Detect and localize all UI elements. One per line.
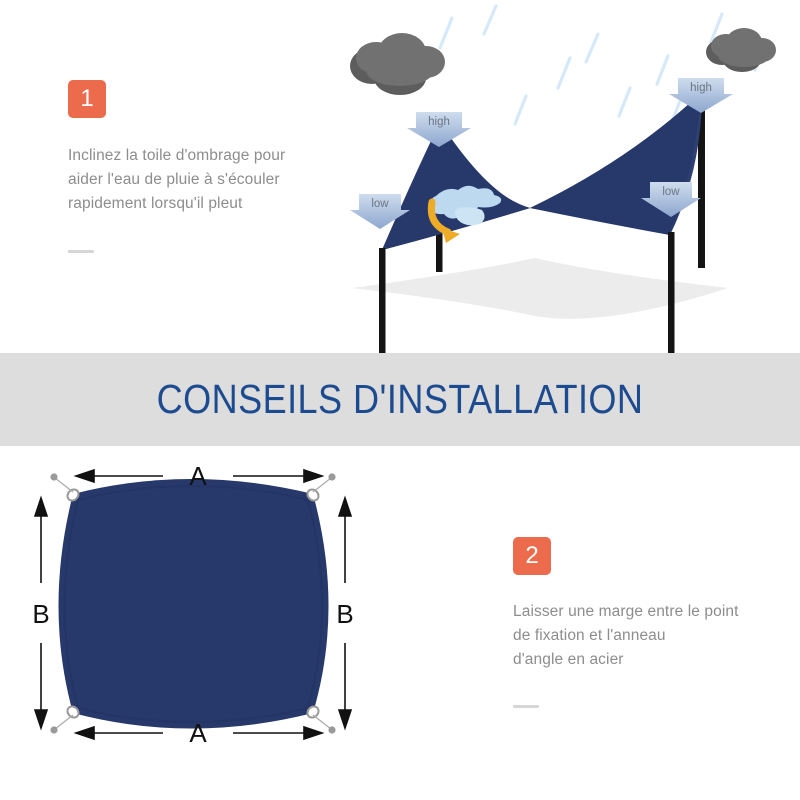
dimension-label-b-right: B (336, 599, 353, 629)
sail-dimension-illustration: A A B B (18, 458, 408, 788)
raindrop-icon (484, 6, 496, 34)
pole-front-right (668, 232, 675, 366)
step-2-block: 2 Laisser une marge entre le point de fi… (513, 537, 763, 708)
section-title-banner: CONSEILS D'INSTALLATION (0, 353, 800, 446)
anchor-line (55, 478, 73, 492)
page-title: CONSEILS D'INSTALLATION (48, 353, 752, 446)
raindrop-icon (440, 18, 452, 48)
pole-label-text: low (662, 186, 680, 198)
step-2-number-badge: 2 (513, 537, 551, 575)
pole-front-left (379, 248, 386, 366)
dimension-label-a-top: A (189, 461, 207, 491)
anchor-line (55, 715, 73, 729)
cloud-icon-right (706, 28, 776, 72)
anchor-line (313, 715, 331, 729)
step-2-description: Laisser une marge entre le point de fixa… (513, 600, 763, 672)
raindrop-icon (586, 34, 598, 62)
anchor-line (313, 478, 331, 492)
sail-square-shape (59, 479, 329, 729)
step-1-block: 1 Inclinez la toile d'ombrage pour aider… (68, 80, 318, 253)
anchor-point-icon (328, 726, 335, 733)
dimension-label-b-left: B (32, 599, 49, 629)
raindrop-icon (558, 58, 570, 88)
raindrop-icon (619, 88, 630, 116)
pole-label-text: high (690, 82, 712, 94)
anchor-point-icon (328, 473, 335, 480)
cloud-icon-left (350, 33, 445, 95)
raindrop-icon (657, 56, 668, 84)
step-2-divider (513, 705, 539, 708)
anchor-point-icon (50, 473, 57, 480)
pole-label-text: low (371, 198, 389, 210)
installation-tips-infographic: 1 Inclinez la toile d'ombrage pour aider… (0, 0, 800, 800)
shade-sail-rain-illustration: high high low low (330, 0, 800, 348)
step-1-divider (68, 250, 94, 253)
step-1-description: Inclinez la toile d'ombrage pour aider l… (68, 144, 318, 216)
step-1-number-badge: 1 (68, 80, 106, 118)
raindrop-group (440, 6, 766, 124)
pole-label-high-back-left: high (407, 112, 471, 147)
anchor-point-icon (50, 726, 57, 733)
pole-label-text: high (428, 116, 450, 128)
dimension-label-a-bottom: A (189, 718, 207, 748)
raindrop-icon (515, 96, 526, 124)
